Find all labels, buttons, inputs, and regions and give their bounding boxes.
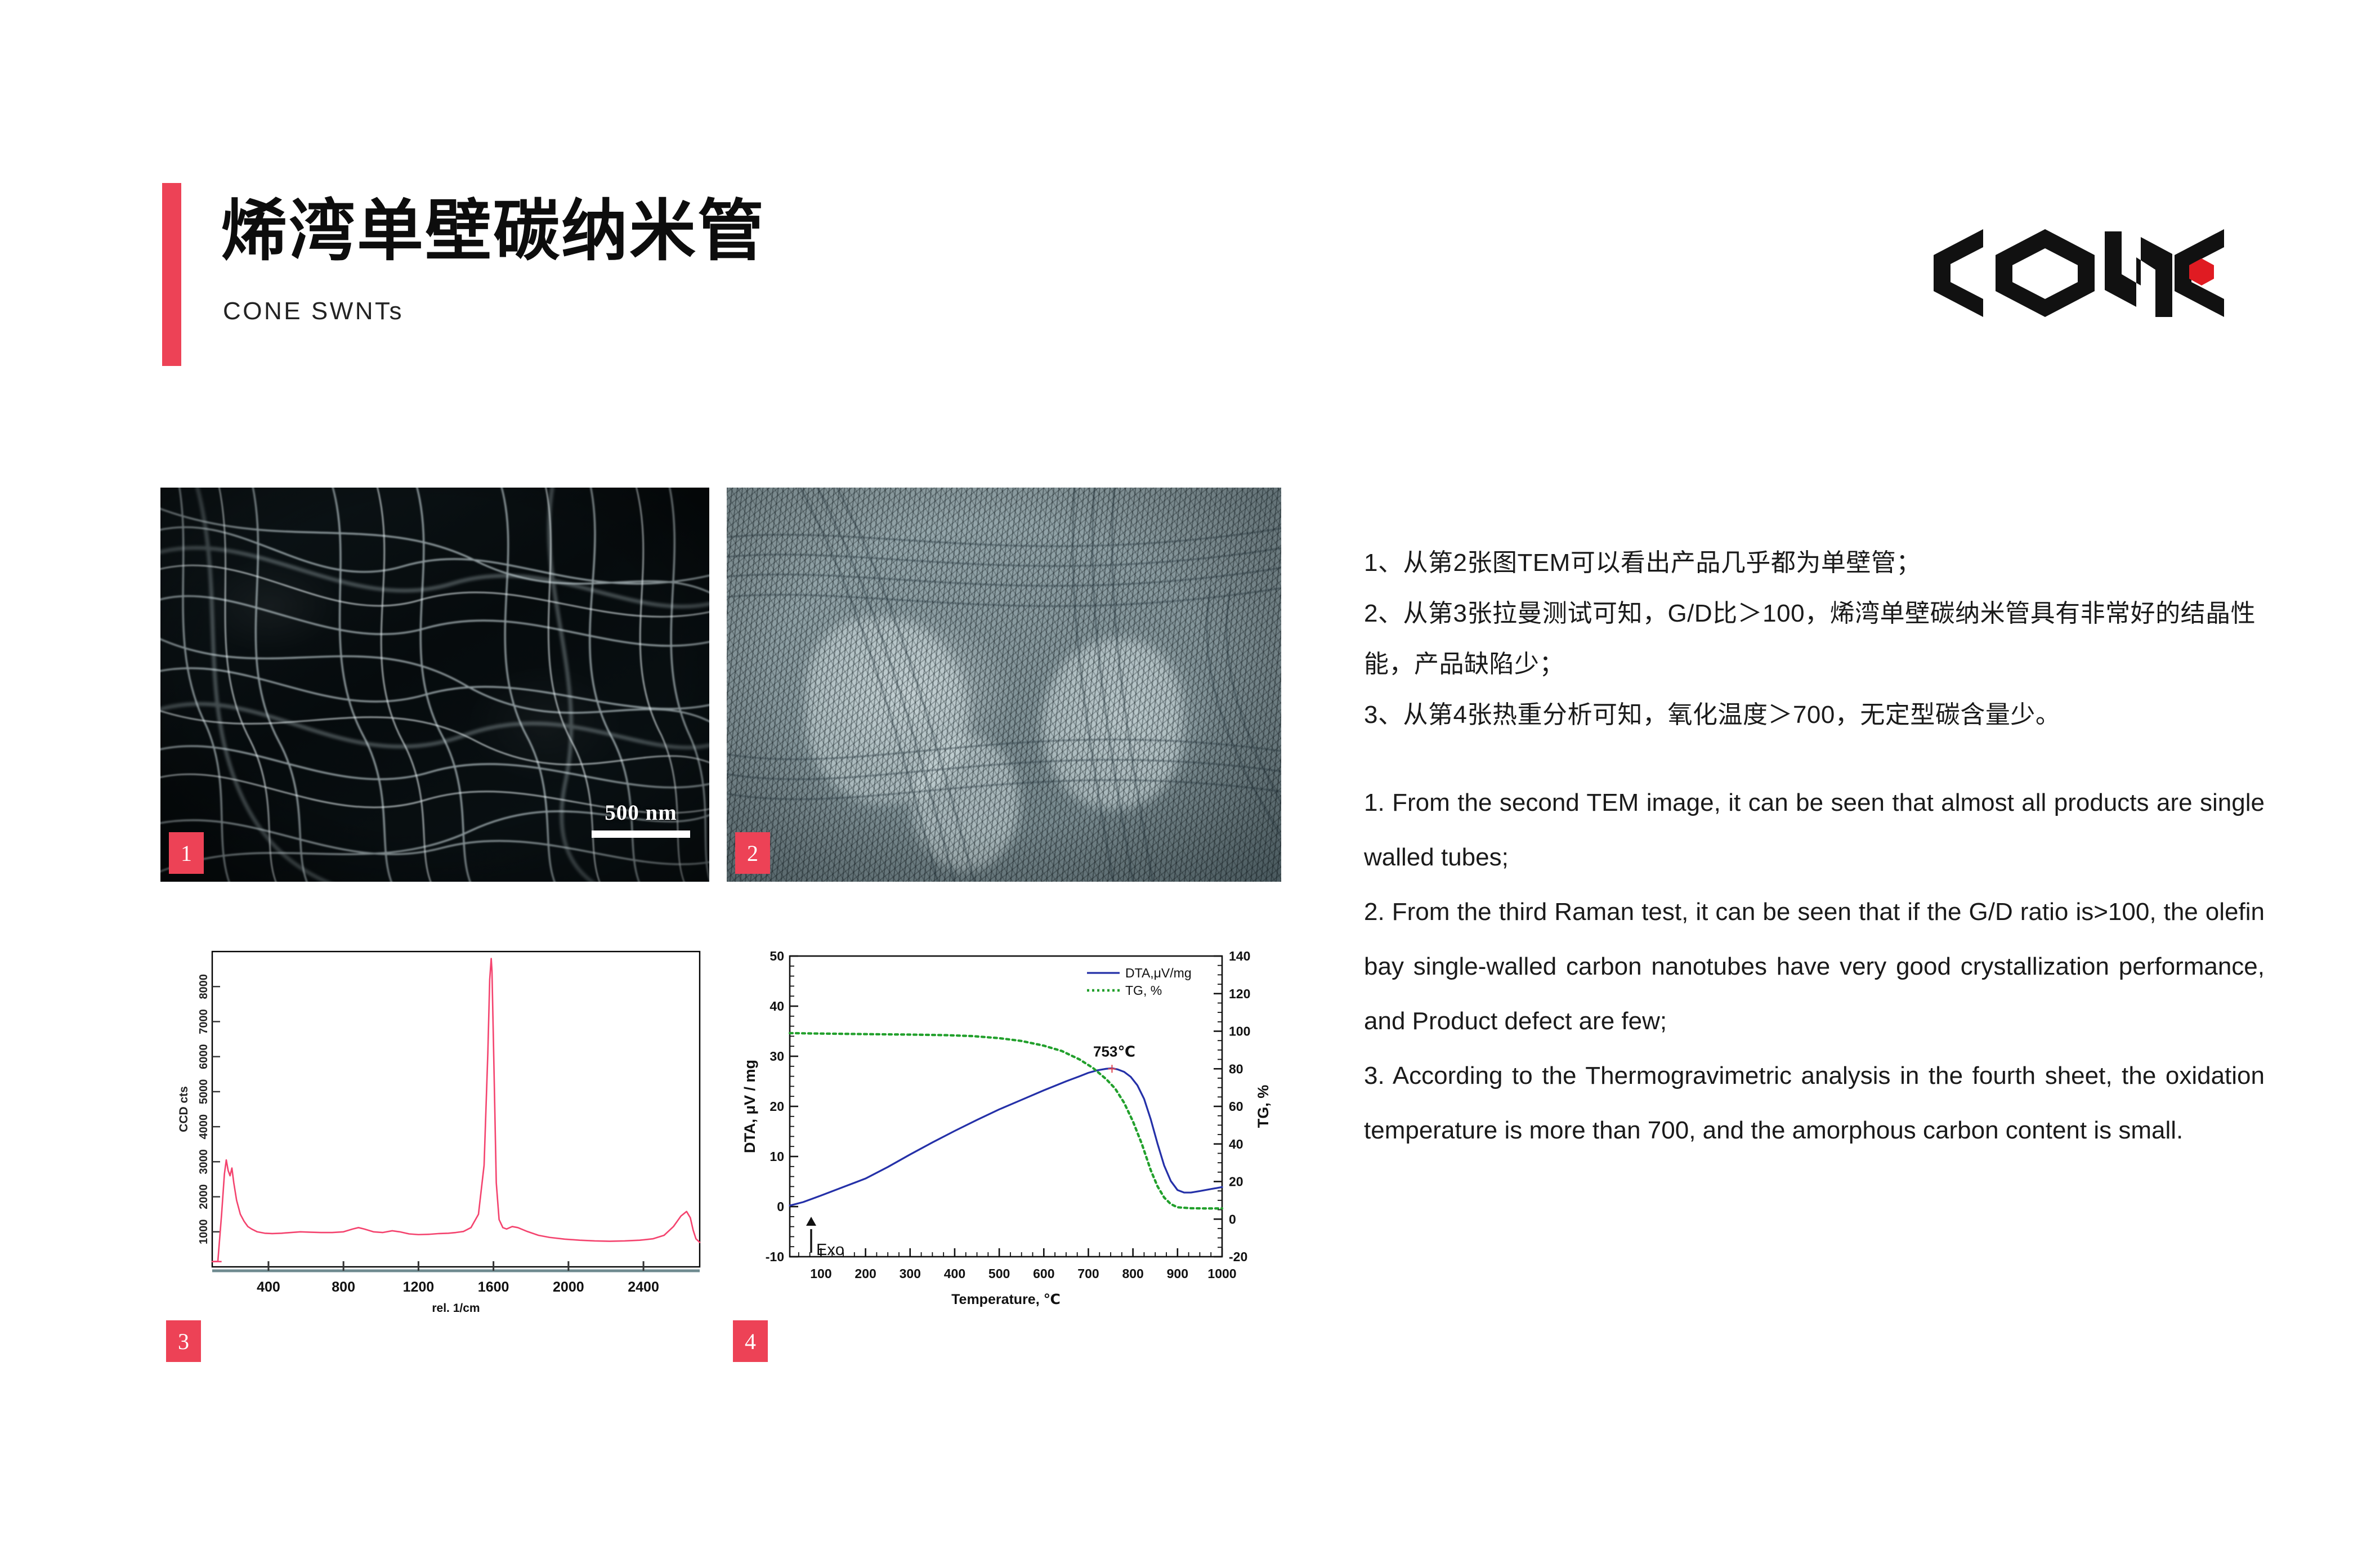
svg-text:800: 800 <box>1122 1266 1143 1281</box>
note-en-2: 2. From the third Raman test, it can be … <box>1364 885 2265 1048</box>
notes-spacer <box>1364 740 2265 775</box>
svg-text:1200: 1200 <box>403 1279 435 1295</box>
note-en-3: 3. According to the Thermogravimetric an… <box>1364 1048 2265 1158</box>
tem-image-panel <box>727 488 1281 882</box>
svg-text:-10: -10 <box>766 1249 784 1264</box>
svg-text:8000: 8000 <box>198 974 210 999</box>
svg-text:120: 120 <box>1229 986 1250 1001</box>
svg-text:60: 60 <box>1229 1099 1243 1114</box>
svg-text:400: 400 <box>257 1279 280 1295</box>
svg-text:Temperature, ℃: Temperature, ℃ <box>951 1292 1061 1307</box>
svg-text:200: 200 <box>855 1266 876 1281</box>
svg-text:20: 20 <box>1229 1175 1243 1189</box>
svg-text:2000: 2000 <box>198 1184 210 1209</box>
svg-text:1000: 1000 <box>1207 1266 1236 1281</box>
svg-text:900: 900 <box>1167 1266 1188 1281</box>
note-cn-3: 3、从第4张热重分析可知，氧化温度＞700，无定型碳含量少。 <box>1364 690 2265 740</box>
svg-text:rel. 1/cm: rel. 1/cm <box>432 1302 480 1313</box>
svg-text:50: 50 <box>770 949 784 963</box>
svg-text:5000: 5000 <box>198 1079 210 1105</box>
note-cn-1: 1、从第2张图TEM可以看出产品几乎都为单壁管； <box>1364 538 2265 588</box>
svg-text:20: 20 <box>770 1099 784 1114</box>
svg-text:2000: 2000 <box>553 1279 584 1295</box>
svg-text:4000: 4000 <box>198 1114 210 1140</box>
svg-text:700: 700 <box>1077 1266 1099 1281</box>
svg-text:6000: 6000 <box>198 1044 210 1069</box>
panel-badge-3: 3 <box>166 1320 201 1362</box>
title-accent-bar <box>162 183 181 366</box>
svg-text:1000: 1000 <box>198 1220 210 1245</box>
svg-text:40: 40 <box>1229 1137 1243 1151</box>
panel-badge-1: 1 <box>169 832 204 874</box>
scale-bar-line <box>592 830 690 838</box>
svg-text:2400: 2400 <box>628 1279 659 1295</box>
slide-root: 烯湾单壁碳纳米管 CONE SWNTs <box>0 0 2380 1563</box>
svg-text:7000: 7000 <box>198 1009 210 1034</box>
svg-text:300: 300 <box>900 1266 921 1281</box>
svg-text:1600: 1600 <box>478 1279 509 1295</box>
svg-text:30: 30 <box>770 1049 784 1064</box>
svg-text:600: 600 <box>1033 1266 1054 1281</box>
svg-text:-20: -20 <box>1229 1249 1247 1264</box>
svg-text:TG, %: TG, % <box>1125 983 1162 998</box>
svg-text:753℃: 753℃ <box>1093 1043 1135 1060</box>
svg-text:800: 800 <box>332 1279 355 1295</box>
svg-text:10: 10 <box>770 1149 784 1164</box>
note-cn-2: 2、从第3张拉曼测试可知，G/D比＞100，烯湾单壁碳纳米管具有非常好的结晶性能… <box>1364 588 2265 690</box>
svg-text:DTA,μV/mg: DTA,μV/mg <box>1125 966 1192 980</box>
sem-image-panel: 500 nm <box>160 488 709 882</box>
svg-text:0: 0 <box>777 1199 784 1214</box>
svg-text:DTA, μV / mg: DTA, μV / mg <box>741 1060 758 1153</box>
panel-badge-4: 4 <box>733 1320 768 1362</box>
cone-logo <box>1911 222 2226 321</box>
svg-text:100: 100 <box>810 1266 831 1281</box>
svg-text:3000: 3000 <box>198 1149 210 1174</box>
page-subtitle: CONE SWNTs <box>223 297 404 325</box>
raman-chart-panel: 10002000300040005000600070008000CCD cts4… <box>160 941 709 1313</box>
svg-text:Exo: Exo <box>816 1241 844 1259</box>
svg-text:CCD cts: CCD cts <box>177 1086 190 1132</box>
svg-text:80: 80 <box>1229 1061 1243 1076</box>
svg-text:500: 500 <box>988 1266 1010 1281</box>
raman-chart: 10002000300040005000600070008000CCD cts4… <box>160 941 709 1313</box>
note-en-1: 1. From the second TEM image, it can be … <box>1364 775 2265 885</box>
svg-text:100: 100 <box>1229 1024 1250 1039</box>
scale-bar: 500 nm <box>592 800 690 838</box>
tga-chart-panel: -1001020304050DTA, μV / mg-2002040608010… <box>727 941 1281 1313</box>
panel-badge-2: 2 <box>735 832 770 874</box>
tga-dta-chart: -1001020304050DTA, μV / mg-2002040608010… <box>727 941 1281 1313</box>
tem-bundle-overlay <box>727 488 1281 882</box>
svg-text:400: 400 <box>944 1266 965 1281</box>
scale-bar-label: 500 nm <box>592 800 690 825</box>
svg-text:40: 40 <box>770 999 784 1013</box>
svg-text:TG, %: TG, % <box>1255 1085 1272 1128</box>
notes-column: 1、从第2张图TEM可以看出产品几乎都为单壁管； 2、从第3张拉曼测试可知，G/… <box>1364 538 2265 1158</box>
svg-text:0: 0 <box>1229 1212 1236 1226</box>
page-title: 烯湾单壁碳纳米管 <box>221 197 766 267</box>
cone-logo-mark <box>1911 222 2226 321</box>
svg-text:140: 140 <box>1229 949 1250 963</box>
